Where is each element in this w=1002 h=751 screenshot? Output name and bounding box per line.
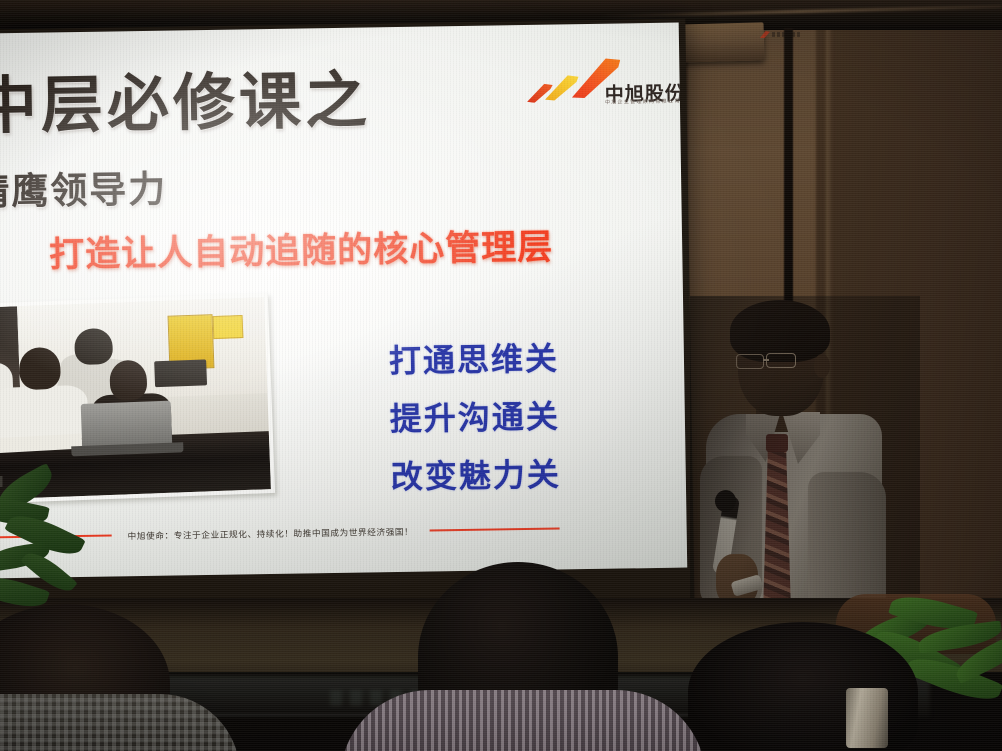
footer-rule-right bbox=[429, 527, 559, 531]
presenter-tie-knot bbox=[766, 434, 788, 452]
footer-mission-text: 中旭使命：专注于企业正规化、持续化！助推中国成为世界经济强国！ bbox=[128, 525, 414, 542]
audience-member-center-shirt bbox=[340, 690, 706, 751]
slide-bullet-3: 改变魅力关 bbox=[391, 458, 561, 493]
presenter-ear bbox=[814, 354, 830, 378]
roller-logo-mark-icon bbox=[760, 31, 770, 38]
photo-person-3-head bbox=[19, 347, 62, 391]
photo-poster-small bbox=[212, 315, 243, 339]
presenter-glasses-right-lens bbox=[766, 353, 796, 368]
seminar-photo-scene: 中层必修课之 精鹰领导力 打造让人自动追随的核心管理层 中旭股份 中旭企业管理顾… bbox=[0, 0, 1002, 751]
photo-person-4-head bbox=[74, 328, 113, 366]
presenter-glasses-bridge bbox=[763, 359, 769, 361]
drinking-cup bbox=[846, 688, 888, 748]
screen-pull-cord bbox=[784, 28, 793, 328]
slide-bullet-list: 打通思维关 提升沟通关 改变魅力关 bbox=[389, 342, 562, 519]
slide-bullet-1: 打通思维关 bbox=[389, 342, 559, 377]
slide-subtitle: 精鹰领导力 bbox=[0, 171, 168, 211]
presenter-glasses-left-lens bbox=[736, 354, 764, 369]
company-logo: 中旭股份 中旭企业管理顾问有限公司 bbox=[520, 57, 653, 105]
slide-bullet-2: 提升沟通关 bbox=[390, 400, 560, 435]
slide-title: 中层必修课之 bbox=[0, 69, 371, 137]
photo-monitor bbox=[154, 359, 207, 388]
slide-headline: 打造让人自动追随的核心管理层 bbox=[49, 231, 554, 274]
roller-logo-icon bbox=[760, 30, 802, 40]
logo-tagline: 中旭企业管理顾问有限公司 bbox=[605, 98, 681, 106]
